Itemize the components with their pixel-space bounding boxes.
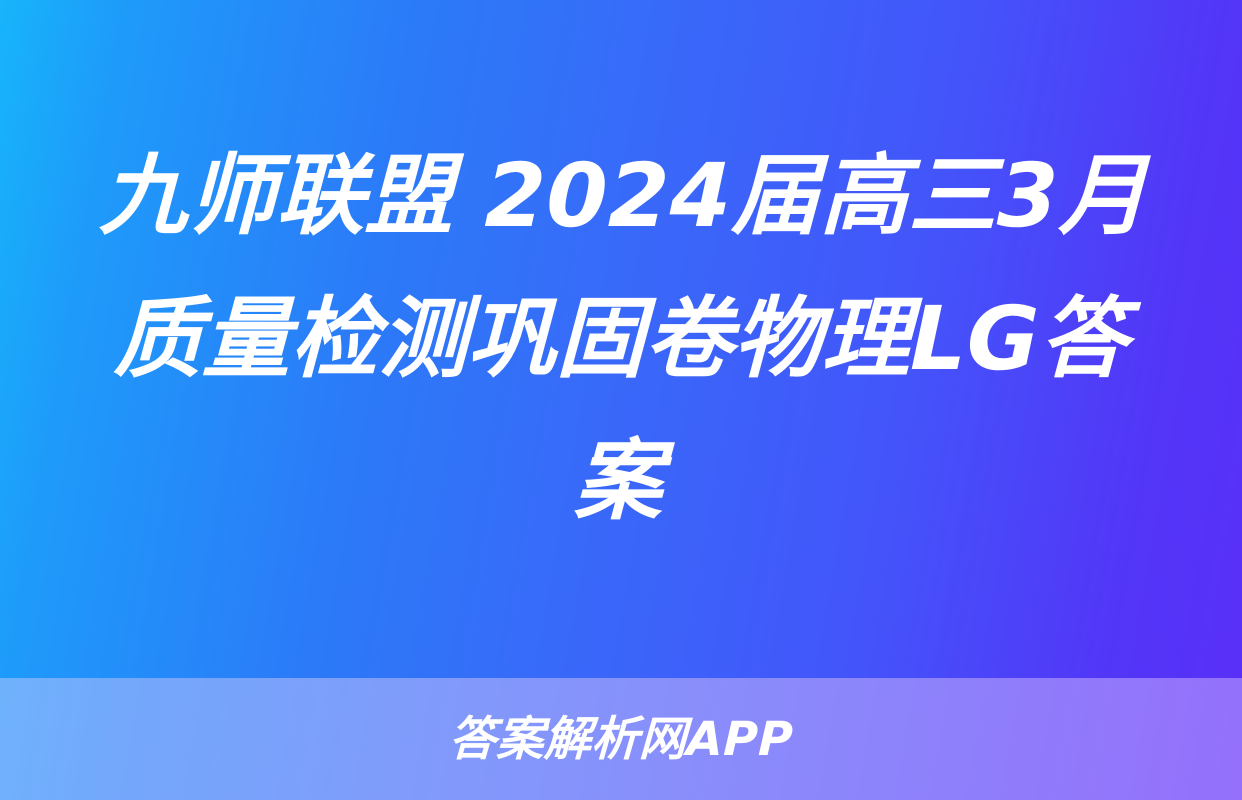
footer-watermark-band: 答案解析网APP [0, 678, 1242, 800]
page-title: 九师联盟 2024届高三3月质量检测巩固卷物理LG答案 [66, 125, 1175, 553]
poster-card: 九师联盟 2024届高三3月质量检测巩固卷物理LG答案 答案解析网APP [0, 0, 1242, 800]
app-watermark-label: 答案解析网APP [448, 716, 794, 763]
headline-container: 九师联盟 2024届高三3月质量检测巩固卷物理LG答案 [0, 0, 1242, 678]
